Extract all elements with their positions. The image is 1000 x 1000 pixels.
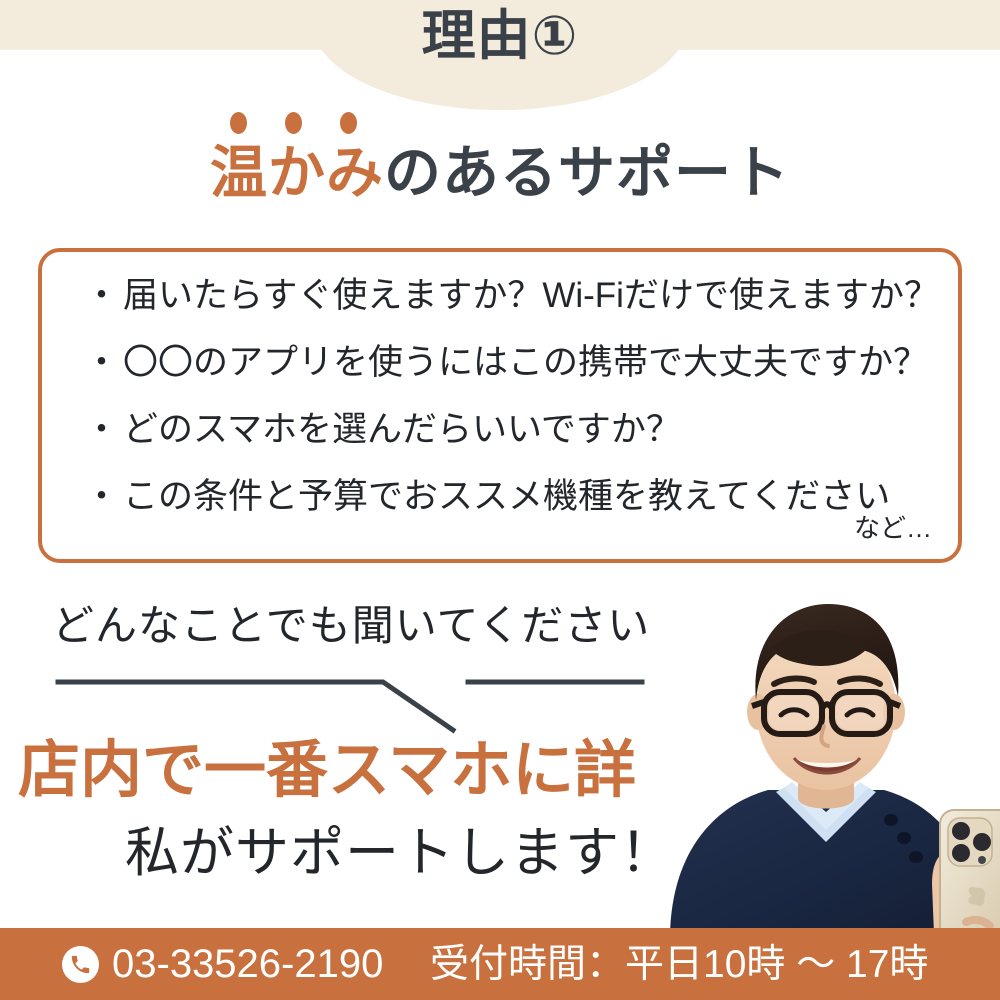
bullet-icon: ・	[84, 345, 119, 380]
decorative-pointer-line	[40, 668, 690, 734]
question-list: ・届いたらすぐ使えますか？Wi-Fiだけで使えますか？ ・〇〇のアプリを使うには…	[84, 278, 938, 514]
phone-handset-glyph	[69, 953, 92, 976]
list-item-label: この条件と予算でおススメ機種を教えてください	[123, 477, 890, 516]
bullet-icon: ・	[84, 479, 119, 514]
list-item-label: 〇〇のアプリを使うにはこの携帯で大丈夫ですか？	[123, 343, 928, 382]
list-item: ・〇〇のアプリを使うにはこの携帯で大丈夫ですか？	[84, 345, 938, 380]
bullet-icon: ・	[84, 412, 119, 447]
footer-bar: 03-33526-2190 受付時間：平日10時 〜 17時	[0, 928, 1000, 1000]
staff-photo-illustration	[648, 592, 1000, 934]
emphasis-dot-icon	[340, 112, 357, 134]
emphasis-dots	[222, 112, 362, 136]
emphasis-dot-icon	[285, 112, 302, 134]
subtitle: 温かみのあるサポート	[0, 142, 1000, 205]
list-item-label: 届いたらすぐ使えますか？Wi-Fiだけで使えますか？	[123, 276, 939, 315]
phone-handset-icon	[62, 946, 99, 983]
cta-text: どんなことでも聞いてください！	[52, 605, 693, 647]
subtitle-highlight: 温かみ	[210, 141, 384, 205]
phone-number[interactable]: 03-33526-2190	[112, 944, 383, 984]
poster-root: 理由① 温かみのあるサポート ・届いたらすぐ使えますか？Wi-Fiだけで使えます…	[0, 0, 1000, 1000]
business-hours: 受付時間：平日10時 〜 17時	[430, 945, 928, 984]
headline-secondary: 私がサポートします！	[125, 826, 675, 880]
page-title: 理由①	[0, 9, 1000, 63]
list-item: ・この条件と予算でおススメ機種を教えてください	[84, 479, 938, 514]
question-box: ・届いたらすぐ使えますか？Wi-Fiだけで使えますか？ ・〇〇のアプリを使うには…	[38, 248, 962, 563]
etc-label: など…	[854, 508, 932, 545]
list-item: ・どのスマホを選んだらいいですか？	[84, 412, 938, 447]
emphasis-dot-icon	[230, 112, 247, 134]
list-item: ・届いたらすぐ使えますか？Wi-Fiだけで使えますか？	[84, 278, 938, 313]
bullet-icon: ・	[84, 278, 119, 313]
list-item-label: どのスマホを選んだらいいですか？	[123, 410, 681, 449]
staff-photo	[648, 592, 1000, 934]
subtitle-rest: のあるサポート	[384, 141, 790, 205]
